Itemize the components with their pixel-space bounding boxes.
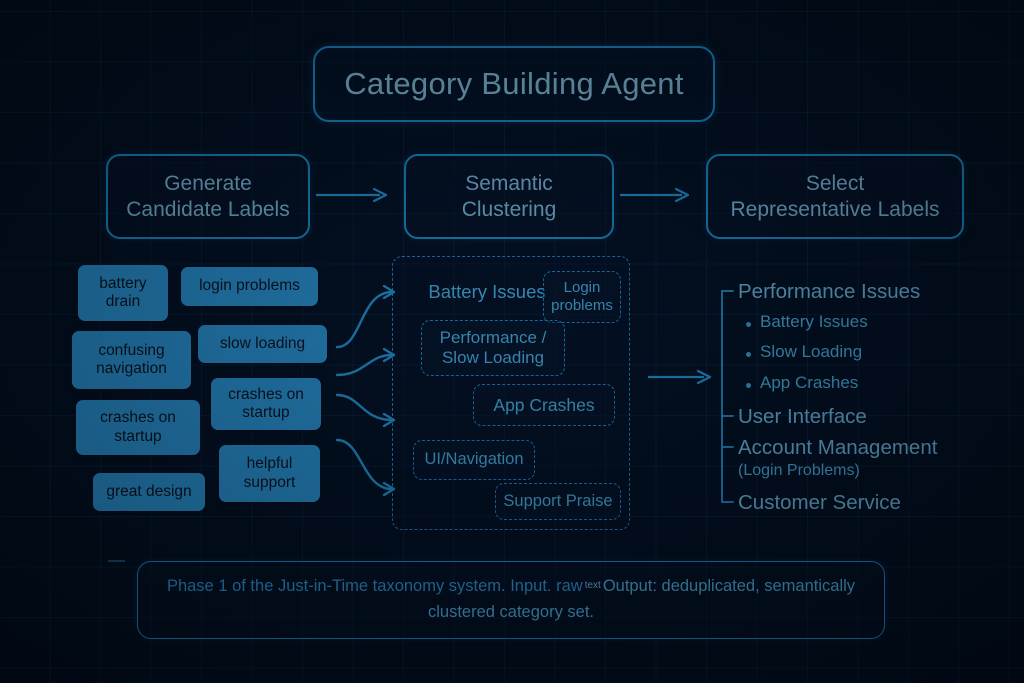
output-subcategory[interactable]: Slow Loading	[760, 342, 862, 362]
caption-part1: Phase 1 of the Just-in-Time taxonomy sys…	[167, 577, 583, 595]
stage-2-line2: Representative Labels	[731, 198, 940, 221]
stage-0-line1: Generate	[164, 172, 252, 195]
bullet-icon	[746, 322, 751, 327]
candidate-label-chip[interactable]: battery drain	[78, 265, 168, 321]
diagram-canvas: Category Building Agent Generate Candida…	[0, 0, 1024, 683]
output-subcategory[interactable]: App Crashes	[760, 373, 858, 393]
caption-box: Phase 1 of the Just-in-Time taxonomy sys…	[137, 561, 885, 639]
candidate-label-chip[interactable]: login problems	[181, 267, 318, 306]
stage-1-line1: Semantic	[465, 172, 553, 195]
page-title: Category Building Agent	[344, 66, 684, 102]
stage-select-representative-labels: Select Representative Labels	[706, 154, 964, 239]
stage-2-line1: Select	[806, 172, 864, 195]
arrow-right-icon	[316, 186, 396, 204]
candidate-label-chip[interactable]: great design	[93, 473, 205, 511]
cluster-item[interactable]: Support Praise	[495, 483, 621, 520]
cluster-item[interactable]: UI/Navigation	[413, 440, 535, 480]
output-category[interactable]: Account Management	[738, 436, 937, 460]
diagram-title-box: Category Building Agent	[313, 46, 715, 122]
caption-text: Phase 1 of the Just-in-Time taxonomy sys…	[161, 574, 861, 625]
bullet-icon	[746, 383, 751, 388]
stage-semantic-clustering: Semantic Clustering	[404, 154, 614, 239]
caption-superscript: text	[583, 580, 603, 591]
cluster-item[interactable]: Login problems	[543, 271, 621, 323]
stage-generate-candidate-labels: Generate Candidate Labels	[106, 154, 310, 239]
arrow-right-icon	[620, 186, 698, 204]
semantic-cluster-panel: Battery IssuesLogin problemsPerformance …	[392, 256, 630, 530]
output-category[interactable]: Customer Service	[738, 491, 901, 515]
candidate-label-chip[interactable]: crashes on startup	[211, 378, 321, 430]
output-subcategory[interactable]: Battery Issues	[760, 312, 868, 332]
stage-1-line2: Clustering	[462, 198, 557, 221]
output-category[interactable]: User Interface	[738, 405, 867, 429]
stage-0-line2: Candidate Labels	[126, 198, 289, 221]
cluster-item[interactable]: App Crashes	[473, 384, 615, 426]
output-category[interactable]: Performance Issues	[738, 280, 920, 304]
output-category-note: (Login Problems)	[738, 462, 860, 480]
candidate-label-chip[interactable]: confusing navigation	[72, 331, 191, 389]
tree-bracket	[700, 272, 1010, 527]
cluster-item[interactable]: Battery Issues	[417, 277, 557, 307]
candidate-label-chip[interactable]: slow loading	[198, 325, 327, 363]
bullet-icon	[746, 352, 751, 357]
representative-labels-tree: Performance IssuesBattery IssuesSlow Loa…	[700, 272, 1010, 527]
cluster-item[interactable]: Performance / Slow Loading	[421, 320, 565, 376]
candidate-label-chip[interactable]: crashes on startup	[76, 400, 200, 455]
candidate-label-chip[interactable]: helpful support	[219, 445, 320, 502]
